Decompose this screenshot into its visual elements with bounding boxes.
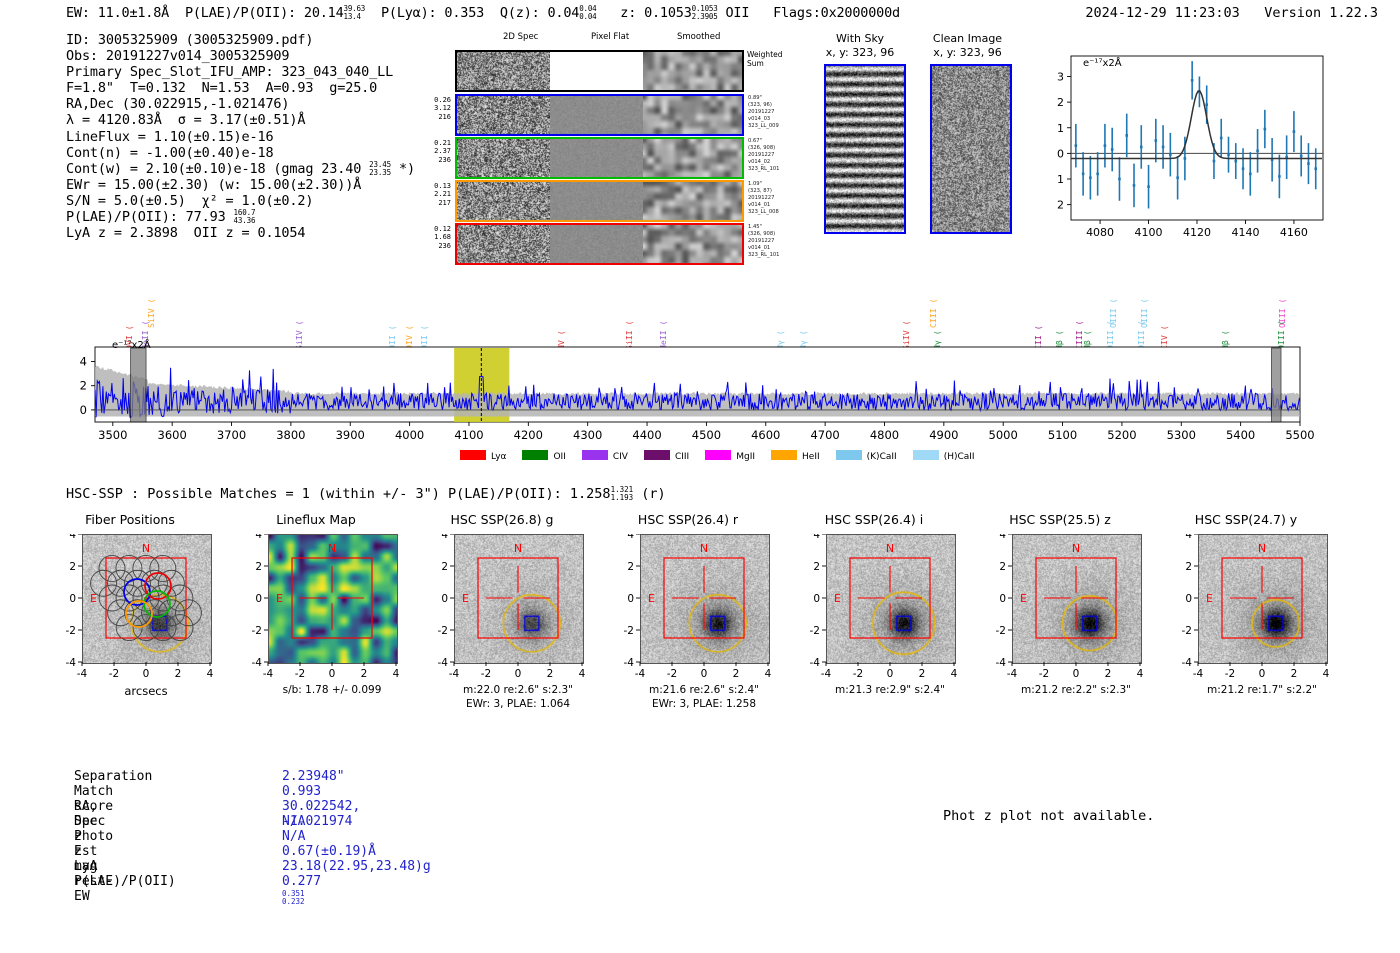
with-sky-title: With Sky bbox=[810, 32, 910, 45]
svg-text:0: 0 bbox=[329, 668, 336, 680]
svg-text:-2: -2 bbox=[109, 668, 119, 680]
svg-text:2: 2 bbox=[999, 561, 1006, 573]
svg-text:-4: -4 bbox=[1193, 668, 1204, 680]
svg-text:4400: 4400 bbox=[632, 428, 661, 442]
svg-text:2: 2 bbox=[69, 561, 76, 573]
svg-text:4: 4 bbox=[80, 355, 87, 369]
legend-label: (K)CaII bbox=[867, 452, 897, 462]
spec2d-fiber-smoothed bbox=[643, 225, 742, 263]
info-line-obs: Obs: 20191227v014_3005325909 bbox=[66, 48, 415, 64]
cutout-y-axis: 420-2-4 bbox=[804, 534, 828, 666]
cutout-image bbox=[826, 534, 956, 664]
svg-text:4140: 4140 bbox=[1231, 226, 1259, 239]
svg-text:3: 3 bbox=[1057, 71, 1064, 84]
svg-text:4: 4 bbox=[579, 668, 586, 680]
svg-text:0: 0 bbox=[143, 668, 150, 680]
plae-bottom-value: 0.277 bbox=[282, 874, 321, 889]
cutout-image bbox=[82, 534, 212, 664]
spec2d-fiber-smoothed bbox=[643, 139, 742, 177]
row-key-separation: Separation bbox=[74, 770, 152, 785]
svg-text:2: 2 bbox=[1291, 668, 1298, 680]
cutout-image bbox=[454, 534, 584, 664]
svg-text:5200: 5200 bbox=[1107, 428, 1136, 442]
svg-text:4100: 4100 bbox=[454, 428, 483, 442]
cutout-image bbox=[268, 534, 398, 664]
cutout-panel: HSC SSP(26.4) iNE-4-2024420-2-4m:21.3 re… bbox=[804, 512, 989, 737]
svg-text:2: 2 bbox=[813, 561, 820, 573]
svg-text:2: 2 bbox=[627, 561, 634, 573]
svg-text:-4: -4 bbox=[635, 668, 646, 680]
gmag-lo: 23.35 bbox=[369, 168, 391, 177]
cutout-caption-1: m:21.3 re:2.9" s:2.4" bbox=[806, 684, 974, 696]
photz-not-available-note: Phot z plot not available. bbox=[943, 808, 1154, 824]
spec2d-row-left-label: 0.263.12216 bbox=[421, 96, 451, 121]
svg-text:-4: -4 bbox=[810, 657, 821, 666]
line-fit-units-annotation: e⁻¹⁷x2Å bbox=[1083, 58, 1122, 69]
row-value-spec-z: N/A bbox=[282, 815, 305, 830]
legend-swatch bbox=[522, 450, 548, 460]
svg-text:2: 2 bbox=[919, 668, 926, 680]
svg-text:2: 2 bbox=[547, 668, 554, 680]
legend-swatch bbox=[582, 450, 608, 460]
plya-label: P(Lyα): bbox=[381, 5, 437, 21]
spec2d-fiber-pixelflat bbox=[550, 96, 643, 134]
cutout-axes: -4-2024 bbox=[990, 662, 1175, 702]
cutout-image bbox=[1012, 534, 1142, 664]
plae-lo: 13.4 bbox=[344, 12, 361, 21]
svg-text:4: 4 bbox=[69, 534, 76, 541]
svg-text:5500: 5500 bbox=[1285, 428, 1314, 442]
spec2d-fiber-smoothed bbox=[643, 96, 742, 134]
spec2d-col-title-pixelflat: Pixel Flat bbox=[591, 32, 629, 42]
info-cont-w-text: Cont(w) = 2.10(±0.10)e-18 (gmag 23.40 bbox=[66, 161, 369, 177]
svg-text:2: 2 bbox=[441, 561, 448, 573]
z-label: z: bbox=[620, 5, 636, 21]
svg-text:0: 0 bbox=[999, 593, 1006, 605]
cutout-axes: -4-2024 bbox=[246, 662, 431, 702]
row-value-plae-poii: 0.2770.3510.232 bbox=[282, 875, 321, 906]
spectrum-svg: 3500360037003800390040004100420043004400… bbox=[0, 262, 1400, 452]
qz-label: Q(z): bbox=[500, 5, 540, 21]
legend-label: (H)CaII bbox=[944, 452, 975, 462]
row-key-mag: mag bbox=[74, 860, 97, 875]
cutout-y-axis: 420-2-4 bbox=[1176, 534, 1200, 666]
hsc-header-text: HSC-SSP : Possible Matches = 1 (within +… bbox=[66, 486, 611, 502]
svg-text:0: 0 bbox=[80, 403, 87, 417]
svg-text:-4: -4 bbox=[66, 657, 77, 666]
svg-text:2: 2 bbox=[255, 561, 262, 573]
svg-text:-4: -4 bbox=[821, 668, 832, 680]
svg-text:3500: 3500 bbox=[98, 428, 127, 442]
cutout-axes: -4-2024 bbox=[432, 662, 617, 702]
svg-text:4: 4 bbox=[255, 534, 262, 541]
info-line-lambda: λ = 4120.83Å σ = 3.17(±0.51)Å bbox=[66, 112, 415, 128]
cutout-caption-2: EWr: 3, PLAE: 1.064 bbox=[434, 698, 602, 710]
svg-text:4800: 4800 bbox=[870, 428, 899, 442]
cutout-title: HSC SSP(26.8) g bbox=[422, 512, 582, 527]
svg-text:2: 2 bbox=[1185, 561, 1192, 573]
legend-label: MgII bbox=[736, 452, 755, 462]
cutout-y-axis: 420-2-4 bbox=[246, 534, 270, 666]
svg-text:-4: -4 bbox=[1182, 657, 1193, 666]
svg-text:4: 4 bbox=[441, 534, 448, 541]
svg-text:-4: -4 bbox=[624, 657, 635, 666]
z-value: 0.1053 bbox=[644, 5, 692, 21]
svg-text:5400: 5400 bbox=[1226, 428, 1255, 442]
legend-swatch bbox=[705, 450, 731, 460]
spec2d-row-right-label: 1.09"(323, 87)20191227v014_01323_LL_008 bbox=[748, 181, 808, 216]
svg-text:5300: 5300 bbox=[1167, 428, 1196, 442]
svg-text:-2: -2 bbox=[438, 625, 448, 637]
svg-text:4: 4 bbox=[999, 534, 1006, 541]
clean-image-subtitle: x, y: 323, 96 bbox=[915, 46, 1020, 59]
spec2d-fiber-2d bbox=[457, 96, 550, 134]
spec2d-fiber-2d bbox=[457, 139, 550, 177]
svg-text:4: 4 bbox=[393, 668, 400, 680]
spec2d-row-right-label: 0.67"(326, 908)20191227v014_02323_RL_101 bbox=[748, 138, 808, 173]
plya-value: 0.353 bbox=[444, 5, 484, 21]
cutout-title: HSC SSP(26.4) r bbox=[608, 512, 768, 527]
full-spectrum-panel: SiIV (OVI (HeII (SiIV (OII (OIV (OII (NV… bbox=[0, 262, 1400, 472]
svg-text:-2: -2 bbox=[810, 625, 820, 637]
row-value-photo-z: N/A bbox=[282, 830, 305, 845]
svg-text:-2: -2 bbox=[624, 625, 634, 637]
svg-text:4: 4 bbox=[627, 534, 634, 541]
spec2d-fiber-2d bbox=[457, 225, 550, 263]
spec2d-weighted-pixelflat bbox=[550, 52, 643, 90]
line-fit-plot: 40804100412041404160210123 e⁻¹⁷x2Å bbox=[1035, 48, 1330, 258]
info-line-specslot: Primary Spec_Slot_IFU_AMP: 323_043_040_L… bbox=[66, 64, 415, 80]
svg-text:4600: 4600 bbox=[751, 428, 780, 442]
cutout-caption-2: EWr: 3, PLAE: 1.258 bbox=[620, 698, 788, 710]
svg-text:4: 4 bbox=[951, 668, 958, 680]
svg-text:-2: -2 bbox=[667, 668, 677, 680]
svg-text:4: 4 bbox=[765, 668, 772, 680]
spec2d-fiber-row bbox=[455, 223, 744, 265]
legend-swatch bbox=[644, 450, 670, 460]
svg-text:-4: -4 bbox=[252, 657, 263, 666]
object-info-block: ID: 3005325909 (3005325909.pdf) Obs: 201… bbox=[66, 32, 415, 241]
svg-text:0: 0 bbox=[701, 668, 708, 680]
cutout-panel: Fiber PositionsNE-4-2024420-2-4arcsecs bbox=[60, 512, 245, 737]
cutout-title: HSC SSP(26.4) i bbox=[794, 512, 954, 527]
spec2d-panel: 2D Spec Pixel Flat Smoothed Weighted Sum… bbox=[425, 32, 755, 257]
info-line-redshifts: LyA z = 2.3898 OII z = 0.1054 bbox=[66, 225, 415, 241]
spec2d-fiber-smoothed bbox=[643, 182, 742, 220]
z-type: OII bbox=[725, 5, 749, 21]
svg-text:4080: 4080 bbox=[1086, 226, 1114, 239]
row-value-match-score: 0.993 bbox=[282, 785, 321, 800]
svg-text:5100: 5100 bbox=[1048, 428, 1077, 442]
cutout-title: HSC SSP(24.7) y bbox=[1166, 512, 1326, 527]
svg-text:-4: -4 bbox=[1007, 668, 1018, 680]
cutout-panel: HSC SSP(26.4) rNE-4-2024420-2-4m:21.6 re… bbox=[618, 512, 803, 737]
svg-text:0: 0 bbox=[1185, 593, 1192, 605]
cutout-panel: HSC SSP(25.5) zNE-4-2024420-2-4m:21.2 re… bbox=[990, 512, 1175, 737]
cutout-caption-1: m:21.6 re:2.6" s:2.4" bbox=[620, 684, 788, 696]
hsc-ssp-header: HSC-SSP : Possible Matches = 1 (within +… bbox=[66, 486, 666, 502]
svg-text:2: 2 bbox=[1057, 96, 1064, 109]
svg-text:4900: 4900 bbox=[929, 428, 958, 442]
z-lo: 2.3905 bbox=[692, 12, 718, 21]
header-summary-line: EW: 11.0±1.8Å P(LAE)/P(OII): 20.1439.631… bbox=[66, 5, 900, 21]
spec2d-row-left-label: 0.121.68236 bbox=[421, 225, 451, 250]
svg-text:0: 0 bbox=[255, 593, 262, 605]
qz-lo: 0.04 bbox=[579, 12, 596, 21]
svg-text:4300: 4300 bbox=[573, 428, 602, 442]
spec2d-row-right-label: 0.89"(323, 96)20191227v014_03323_LL_009 bbox=[748, 95, 808, 130]
info-line-cont-w: Cont(w) = 2.10(±0.10)e-18 (gmag 23.40 23… bbox=[66, 161, 415, 177]
cutout-xlabel: arcsecs bbox=[82, 684, 210, 698]
cutout-caption-1: m:22.0 re:2.6" s:2.3" bbox=[434, 684, 602, 696]
svg-text:-2: -2 bbox=[481, 668, 491, 680]
info-line-id: ID: 3005325909 (3005325909.pdf) bbox=[66, 32, 415, 48]
info-line-lineflux: LineFlux = 1.10(±0.15)e-16 bbox=[66, 129, 415, 145]
legend-label: HeII bbox=[802, 452, 820, 462]
cutout-axes: -4-2024 bbox=[618, 662, 803, 702]
svg-text:2: 2 bbox=[361, 668, 368, 680]
spec2d-row-right-label: 1.45"(326, 908)20191227v014_01323_RL_101 bbox=[748, 224, 808, 259]
legend-swatch bbox=[836, 450, 862, 460]
svg-text:-2: -2 bbox=[1225, 668, 1235, 680]
ew-value: 11.0±1.8Å bbox=[98, 5, 169, 21]
row-value-separation: 2.23948" bbox=[282, 770, 345, 785]
info-line-sn: S/N = 5.0(±0.5) χ² = 1.0(±0.2) bbox=[66, 193, 415, 209]
spec2d-fiber-pixelflat bbox=[550, 182, 643, 220]
svg-text:3600: 3600 bbox=[158, 428, 187, 442]
spec2d-row-left-label: 0.132.21217 bbox=[421, 182, 451, 207]
svg-text:0: 0 bbox=[813, 593, 820, 605]
svg-text:4700: 4700 bbox=[810, 428, 839, 442]
cutout-axes: -4-2024 bbox=[804, 662, 989, 702]
info-line-radec: RA,Dec (30.022915,-1.021476) bbox=[66, 96, 415, 112]
spec2d-weighted-2d bbox=[457, 52, 550, 90]
info-plae-lo: 43.36 bbox=[234, 216, 256, 225]
spec2d-fiber-row bbox=[455, 137, 744, 179]
cutout-caption-1: s/b: 1.78 +/- 0.099 bbox=[248, 684, 416, 696]
svg-text:4: 4 bbox=[1185, 534, 1192, 541]
svg-text:-2: -2 bbox=[252, 625, 262, 637]
qz-value: 0.04 bbox=[547, 5, 579, 21]
cutout-panel-row: Fiber PositionsNE-4-2024420-2-4arcsecsLi… bbox=[0, 512, 1400, 737]
version-text: Version 1.22.3 bbox=[1264, 5, 1378, 21]
svg-text:0: 0 bbox=[515, 668, 522, 680]
plae-value: 20.14 bbox=[304, 5, 344, 21]
svg-text:2: 2 bbox=[175, 668, 182, 680]
spec2d-col-title-smoothed: Smoothed bbox=[677, 32, 720, 42]
svg-text:2: 2 bbox=[1105, 668, 1112, 680]
spec2d-row-left-label: 0.212.37236 bbox=[421, 139, 451, 164]
plae-bottom-lo: 0.232 bbox=[282, 897, 305, 906]
hsc-header-tail: (r) bbox=[641, 486, 665, 502]
svg-text:-4: -4 bbox=[263, 668, 274, 680]
svg-text:-2: -2 bbox=[996, 625, 1006, 637]
clean-image-title: Clean Image bbox=[915, 32, 1020, 45]
info-line-plae: P(LAE)/P(OII): 77.93 160.743.36 bbox=[66, 209, 415, 225]
cutout-panel: Lineflux MapNE-4-2024420-2-4s/b: 1.78 +/… bbox=[246, 512, 431, 737]
legend-swatch bbox=[771, 450, 797, 460]
with-sky-image bbox=[824, 64, 906, 234]
spec2d-fiber-pixelflat bbox=[550, 139, 643, 177]
cutout-y-axis: 420-2-4 bbox=[432, 534, 456, 666]
hsc-plae-lo: 1.193 bbox=[611, 493, 634, 502]
flags-value: Flags:0x2000000d bbox=[773, 5, 900, 21]
svg-text:4: 4 bbox=[1323, 668, 1330, 680]
svg-text:4160: 4160 bbox=[1280, 226, 1308, 239]
info-line-cont-n: Cont(n) = -1.00(±0.40)e-18 bbox=[66, 145, 415, 161]
spectrum-units-annotation: e⁻¹⁷x2Å bbox=[112, 340, 151, 351]
svg-text:3900: 3900 bbox=[336, 428, 365, 442]
spec2d-weighted-sum-row bbox=[455, 50, 744, 92]
cutout-panel: HSC SSP(24.7) yNE-4-2024420-2-4m:21.2 re… bbox=[1176, 512, 1361, 737]
svg-text:1: 1 bbox=[1057, 122, 1064, 135]
svg-text:3800: 3800 bbox=[276, 428, 305, 442]
row-key-plae-poii: P(LAE)/P(OII) bbox=[74, 875, 176, 890]
svg-text:-4: -4 bbox=[449, 668, 460, 680]
info-line-ewr: EWr = 15.00(±2.30) (w: 15.00(±2.30))Å bbox=[66, 177, 415, 193]
with-sky-subtitle: x, y: 323, 96 bbox=[810, 46, 910, 59]
ew-label: EW: bbox=[66, 5, 90, 21]
svg-text:1: 1 bbox=[1057, 173, 1064, 186]
svg-text:0: 0 bbox=[1259, 668, 1266, 680]
cutout-caption-1: m:21.2 re:2.2" s:2.3" bbox=[992, 684, 1160, 696]
svg-text:-2: -2 bbox=[1182, 625, 1192, 637]
cutout-image bbox=[1198, 534, 1328, 664]
svg-text:0: 0 bbox=[1073, 668, 1080, 680]
datetime-text: 2024-12-29 11:23:03 bbox=[1085, 5, 1239, 21]
info-line-params: F=1.8" T=0.132 N=1.53 A=0.93 g=25.0 bbox=[66, 80, 415, 96]
weighted-sum-label: Weighted Sum bbox=[747, 50, 783, 68]
svg-text:0: 0 bbox=[441, 593, 448, 605]
svg-text:2: 2 bbox=[80, 379, 87, 393]
row-value-est-lya-rest-ew: 0.67(±0.19)Å bbox=[282, 845, 376, 860]
cutout-axes: -4-2024 bbox=[1176, 662, 1361, 702]
svg-text:2: 2 bbox=[1057, 199, 1064, 212]
line-fit-svg: 40804100412041404160210123 bbox=[1035, 48, 1330, 258]
legend-swatch bbox=[460, 450, 486, 460]
spec2d-col-title-2dspec: 2D Spec bbox=[503, 32, 538, 42]
legend-label: CIV bbox=[613, 452, 628, 462]
svg-text:5000: 5000 bbox=[989, 428, 1018, 442]
svg-text:0: 0 bbox=[627, 593, 634, 605]
svg-text:4: 4 bbox=[1137, 668, 1144, 680]
spec2d-fiber-2d bbox=[457, 182, 550, 220]
top-cutouts: With Sky x, y: 323, 96 Clean Image x, y:… bbox=[805, 32, 1020, 257]
spec2d-fiber-row bbox=[455, 94, 744, 136]
svg-text:4120: 4120 bbox=[1183, 226, 1211, 239]
svg-text:-2: -2 bbox=[295, 668, 305, 680]
svg-text:3700: 3700 bbox=[217, 428, 246, 442]
info-plae-text: P(LAE)/P(OII): 77.93 bbox=[66, 209, 234, 225]
svg-text:4: 4 bbox=[813, 534, 820, 541]
svg-text:4100: 4100 bbox=[1135, 226, 1163, 239]
cutout-y-axis: 420-2-4 bbox=[60, 534, 84, 666]
svg-text:-4: -4 bbox=[996, 657, 1007, 666]
svg-text:0: 0 bbox=[1057, 147, 1064, 160]
svg-text:0: 0 bbox=[887, 668, 894, 680]
svg-text:4000: 4000 bbox=[395, 428, 424, 442]
cutout-y-axis: 420-2-4 bbox=[990, 534, 1014, 666]
spec2d-fiber-row bbox=[455, 180, 744, 222]
svg-text:4: 4 bbox=[207, 668, 214, 680]
svg-text:-4: -4 bbox=[77, 668, 88, 680]
svg-text:2: 2 bbox=[733, 668, 740, 680]
cutout-image bbox=[640, 534, 770, 664]
legend-label: Lyα bbox=[491, 452, 506, 462]
svg-text:-2: -2 bbox=[66, 625, 76, 637]
svg-text:-2: -2 bbox=[1039, 668, 1049, 680]
row-value-mag: 23.18(22.95,23.48)g bbox=[282, 860, 431, 875]
cutout-title: Lineflux Map bbox=[236, 512, 396, 527]
cutout-y-axis: 420-2-4 bbox=[618, 534, 642, 666]
svg-text:-4: -4 bbox=[438, 657, 449, 666]
legend-label: CIII bbox=[675, 452, 689, 462]
legend-label: OII bbox=[553, 452, 565, 462]
cutout-title: Fiber Positions bbox=[50, 512, 210, 527]
spec2d-fiber-pixelflat bbox=[550, 225, 643, 263]
svg-text:0: 0 bbox=[69, 593, 76, 605]
svg-text:4200: 4200 bbox=[514, 428, 543, 442]
cutout-caption-1: m:21.2 re:1.7" s:2.2" bbox=[1178, 684, 1346, 696]
spectrum-legend: LyαOIICIVCIIIMgIIHeII(K)CaII(H)CaII bbox=[460, 450, 991, 462]
svg-text:-2: -2 bbox=[853, 668, 863, 680]
cutout-title: HSC SSP(25.5) z bbox=[980, 512, 1140, 527]
plae-label: P(LAE)/P(OII): bbox=[185, 5, 296, 21]
legend-swatch bbox=[913, 450, 939, 460]
gmag-tail: *) bbox=[391, 161, 415, 177]
svg-text:4500: 4500 bbox=[692, 428, 721, 442]
clean-image bbox=[930, 64, 1012, 234]
cutout-panel: HSC SSP(26.8) gNE-4-2024420-2-4m:22.0 re… bbox=[432, 512, 617, 737]
header-timestamp-version: 2024-12-29 11:23:03 Version 1.22.3 bbox=[1085, 5, 1378, 21]
spec2d-weighted-smoothed bbox=[643, 52, 742, 90]
